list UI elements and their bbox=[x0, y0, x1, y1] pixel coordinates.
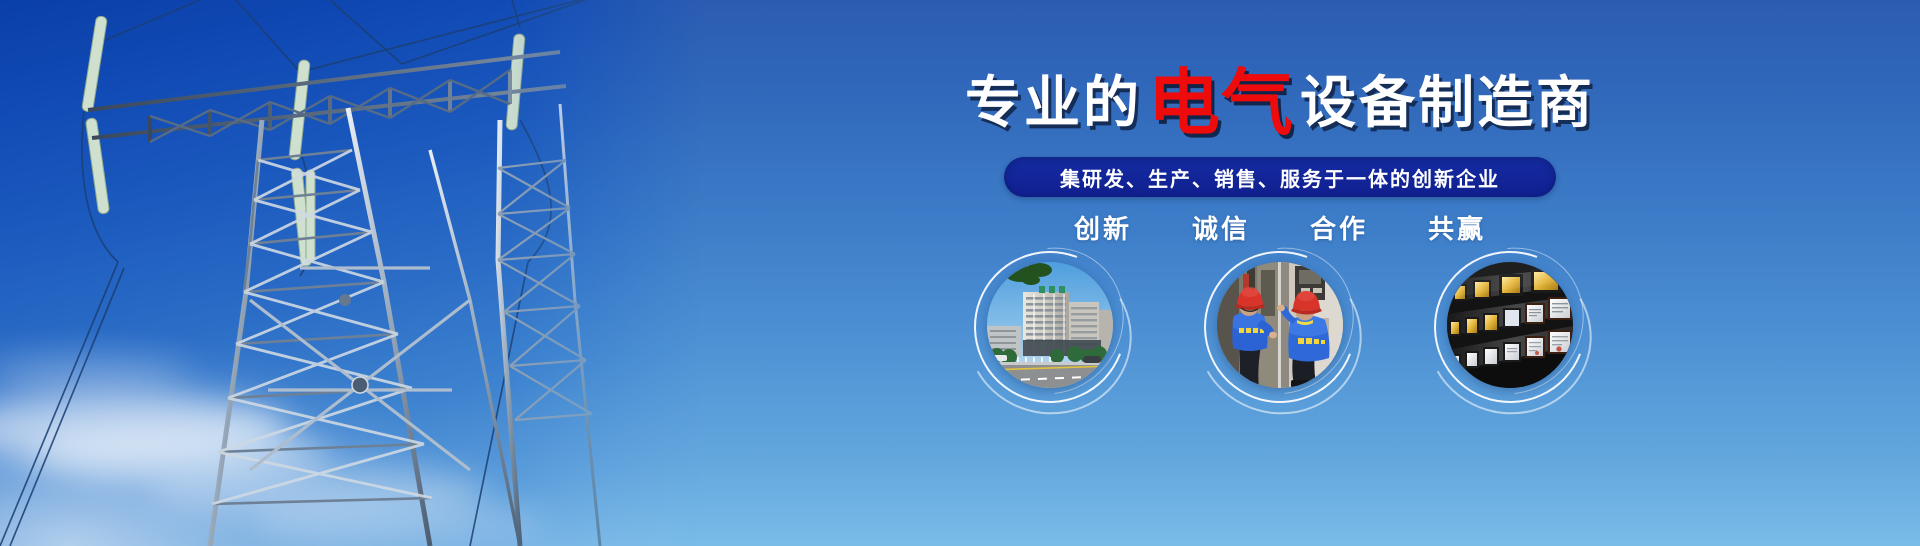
keyword-item: 共赢 bbox=[1428, 209, 1486, 246]
worker-icon bbox=[1217, 262, 1343, 388]
keyword-item: 诚信 bbox=[1192, 209, 1250, 246]
power-pylon-icon bbox=[0, 0, 700, 546]
keyword-item: 创新 bbox=[1074, 209, 1132, 246]
building-icon bbox=[987, 262, 1113, 388]
banner-content: 专业的电气设备制造商 集研发、生产、销售、服务于一体的创新企业 创新 诚信 合作… bbox=[640, 0, 1920, 546]
tagline-text: 集研发、生产、销售、服务于一体的创新企业 bbox=[1060, 163, 1500, 192]
keyword-list: 创新 诚信 合作 共赢 bbox=[640, 209, 1920, 246]
transmission-tower-photo bbox=[0, 0, 700, 546]
headline-part-1: 专业的 bbox=[965, 71, 1142, 134]
headline-accent: 电气 bbox=[1142, 64, 1300, 144]
headline-part-2: 设备制造商 bbox=[1300, 71, 1595, 134]
technicians-at-work-photo[interactable] bbox=[1217, 262, 1343, 388]
promo-banner: 专业的电气设备制造商 集研发、生产、销售、服务于一体的创新企业 创新 诚信 合作… bbox=[0, 0, 1920, 546]
photo-circle-list bbox=[640, 262, 1920, 388]
tagline-pill: 集研发、生产、销售、服务于一体的创新企业 bbox=[1004, 157, 1556, 197]
keyword-item: 合作 bbox=[1310, 209, 1368, 246]
certificate-icon bbox=[1447, 262, 1573, 388]
page-title: 专业的电气设备制造商 bbox=[640, 68, 1920, 140]
certificates-wall-photo[interactable] bbox=[1447, 262, 1573, 388]
office-building-photo[interactable] bbox=[987, 262, 1113, 388]
